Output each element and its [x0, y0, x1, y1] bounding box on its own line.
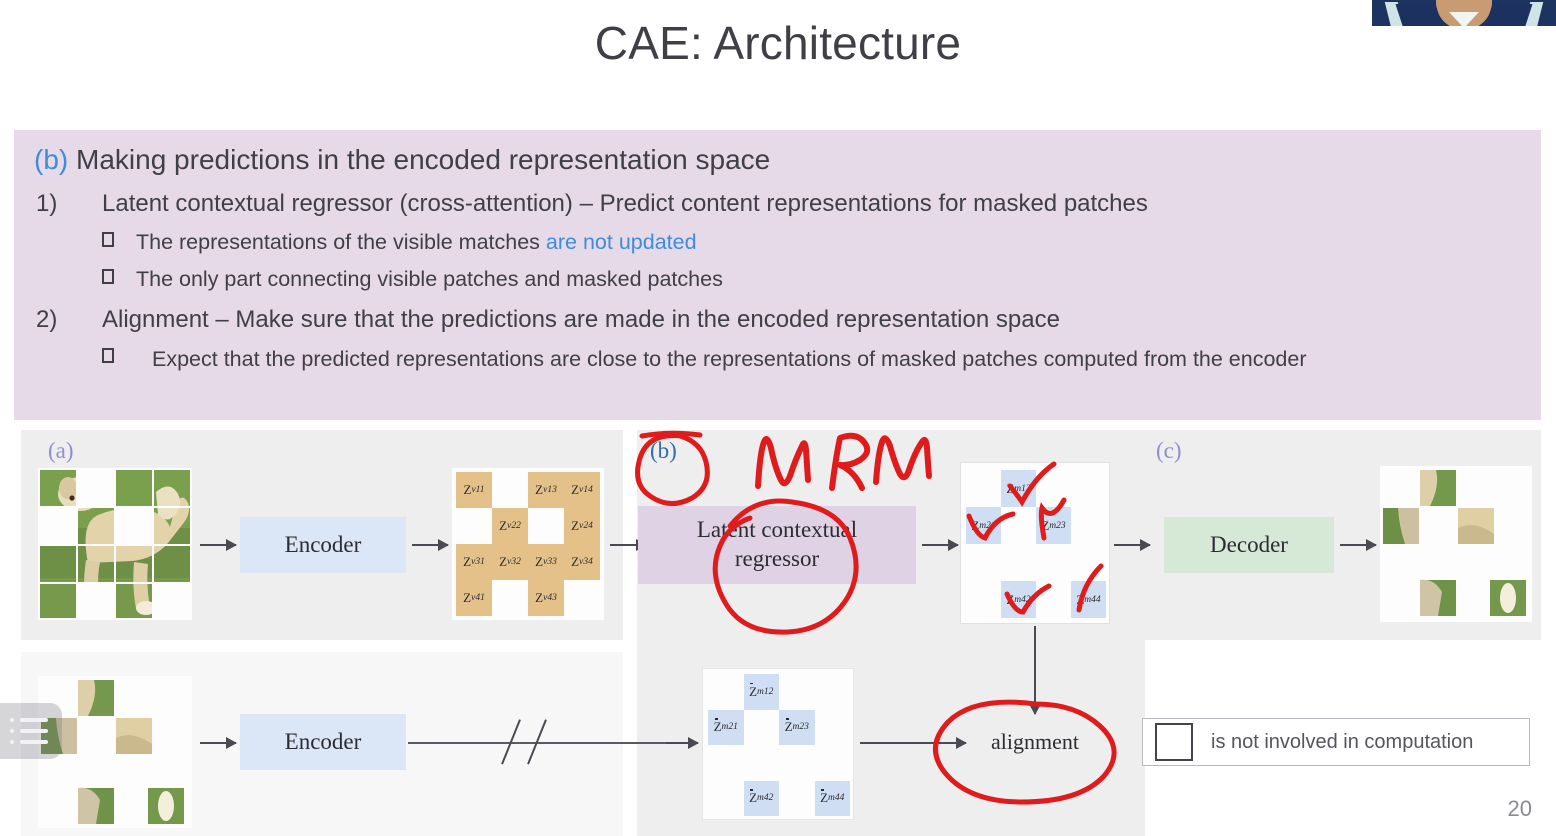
architecture-diagram: (a) (b) (c): [14, 428, 1541, 836]
arrow-to-target-tokens: [666, 742, 698, 744]
panel-c-tag: (c): [1156, 438, 1182, 464]
token-v43: Zv43: [528, 580, 564, 616]
arrow-regressor-to-predicted: [922, 544, 958, 546]
token-v31: Zv31: [456, 544, 492, 580]
list-item-2-sub-1-text: Expect that the predicted representation…: [152, 346, 1502, 374]
predicted-masked-token-grid: Zm12 Zm21 Zm23 Zm42 Zm44: [966, 470, 1106, 618]
token-empty: [492, 580, 528, 616]
reconstructed-masked-patches: [1380, 466, 1532, 622]
alignment-node[interactable]: alignment: [969, 720, 1101, 764]
menu-dot-icon: [10, 740, 14, 744]
token-v34: Zv34: [564, 544, 600, 580]
token-empty: [1071, 544, 1106, 581]
token-empty: [1036, 544, 1071, 581]
token-empty: [966, 581, 1001, 618]
square-bullet-icon: [102, 232, 114, 247]
token-empty: [708, 745, 744, 781]
list-item-2-number: 2): [36, 306, 82, 334]
token-empty: [815, 674, 851, 710]
list-item-1: 1) Latent contextual regressor (cross-at…: [36, 190, 1148, 218]
latent-contextual-regressor-box[interactable]: Latent contextual regressor: [638, 506, 916, 584]
arrow-decoder-to-output: [1340, 544, 1376, 546]
masked-input-image-canvas: [38, 676, 192, 828]
token-v14: Zv14: [564, 472, 600, 508]
token-empty: [1036, 581, 1071, 618]
token-m23: Zm23: [1036, 507, 1071, 544]
legend-empty-square-icon: [1155, 723, 1193, 761]
menu-dot-icon: [10, 729, 14, 733]
menu-line-1: [10, 718, 62, 722]
visible-tokens-canvas: Zv11 Zv13 Zv14 Zv22 Zv24 Zv31 Zv32 Zv33 …: [452, 468, 604, 620]
content-heading-text: Making predictions in the encoded repres…: [76, 144, 770, 175]
token-bar-m21: Zm21: [708, 710, 744, 746]
reconstructed-image-canvas: [1380, 466, 1532, 622]
list-item-2-text: Alignment – Make sure that the predictio…: [102, 306, 1060, 334]
square-bullet-icon: [102, 348, 114, 363]
arrow-encoder-to-tokens: [412, 544, 448, 546]
token-m44: Zm44: [1071, 581, 1106, 618]
slide-canvas: CAE: Architecture (b) Making predictions…: [0, 0, 1556, 836]
page-number: 20: [1508, 796, 1532, 822]
token-v11: Zv11: [456, 472, 492, 508]
list-item-1-number: 1): [36, 190, 82, 218]
token-bar-m44: Zm44: [815, 781, 851, 817]
content-heading-tag: (b): [34, 144, 68, 175]
arrow-predicted-to-alignment: [1034, 626, 1036, 714]
token-m12: Zm12: [1001, 470, 1036, 507]
token-empty: [779, 674, 815, 710]
regressor-label-line-2: regressor: [735, 545, 819, 574]
encoder-box-bottom[interactable]: Encoder: [240, 714, 406, 770]
token-empty: [815, 745, 851, 781]
input-image-canvas: [38, 468, 192, 620]
list-item-2-sub-1: Expect that the predicted representation…: [102, 346, 1502, 374]
list-item-1-sub-2-text: The only part connecting visible patches…: [136, 267, 723, 292]
token-empty: [708, 674, 744, 710]
token-empty: [1071, 470, 1106, 507]
token-bar-m42: Zm42: [744, 781, 780, 817]
target-masked-tokens-canvas: Zm12 Zm21 Zm23 Zm42 Zm44: [702, 668, 854, 820]
token-empty: [779, 745, 815, 781]
menu-line-3: [10, 740, 62, 744]
predicted-masked-tokens-canvas: Zm12 Zm21 Zm23 Zm42 Zm44: [960, 462, 1110, 624]
regressor-label-line-1: Latent contextual: [697, 516, 857, 545]
token-empty: [708, 781, 744, 817]
token-empty: [528, 508, 564, 544]
token-m42: Zm42: [1001, 581, 1036, 618]
panel-a-tag: (a): [48, 438, 74, 464]
menu-dot-icon: [10, 718, 14, 722]
token-v22: Zv22: [492, 508, 528, 544]
content-heading: (b) Making predictions in the encoded re…: [34, 144, 770, 176]
sub-1-highlight: are not updated: [546, 230, 697, 254]
arrow-masked-input-to-encoder: [200, 742, 236, 744]
page-title: CAE: Architecture: [0, 16, 1556, 70]
token-empty: [815, 710, 851, 746]
list-item-1-sub-2: The only part connecting visible patches…: [102, 267, 723, 292]
menu-bar-icon: [20, 729, 48, 733]
token-empty: [492, 472, 528, 508]
encoder-box-top[interactable]: Encoder: [240, 517, 406, 573]
menu-line-2: [10, 729, 62, 733]
target-masked-token-grid: Zm12 Zm21 Zm23 Zm42 Zm44: [708, 674, 850, 816]
decoder-box[interactable]: Decoder: [1164, 517, 1334, 573]
token-bar-m23: Zm23: [779, 710, 815, 746]
legend-box: is not involved in computation: [1142, 718, 1530, 766]
list-item-2: 2) Alignment – Make sure that the predic…: [36, 306, 1060, 334]
list-item-1-sub-1-text: The representations of the visible match…: [136, 230, 697, 255]
arrow-input-to-encoder: [200, 544, 236, 546]
token-empty: [1001, 507, 1036, 544]
token-m21: Zm21: [966, 507, 1001, 544]
token-empty: [1071, 507, 1106, 544]
webcam-shirt-right: [1483, 4, 1532, 26]
token-empty: [564, 580, 600, 616]
token-empty: [1001, 544, 1036, 581]
token-v24: Zv24: [564, 508, 600, 544]
token-v41: Zv41: [456, 580, 492, 616]
list-item-1-sub-1: The representations of the visible match…: [102, 230, 697, 255]
token-empty: [966, 470, 1001, 507]
menu-bar-icon: [20, 718, 48, 722]
panel-b-tag: (b): [650, 438, 677, 464]
token-empty: [456, 508, 492, 544]
token-empty: [779, 781, 815, 817]
list-item-1-text: Latent contextual regressor (cross-atten…: [102, 190, 1148, 218]
token-v33: Zv33: [528, 544, 564, 580]
legend-label: is not involved in computation: [1211, 731, 1473, 754]
arrow-predicted-to-decoder: [1114, 544, 1150, 546]
square-bullet-icon: [102, 269, 114, 284]
token-v13: Zv13: [528, 472, 564, 508]
content-box: (b) Making predictions in the encoded re…: [14, 130, 1541, 420]
webcam-overlay: [1372, 0, 1556, 26]
masked-input-image: [38, 468, 192, 620]
token-v32: Zv32: [492, 544, 528, 580]
visible-token-grid: Zv11 Zv13 Zv14 Zv22 Zv24 Zv31 Zv32 Zv33 …: [456, 472, 600, 616]
token-empty: [966, 544, 1001, 581]
masked-patches-input-image: [38, 676, 192, 828]
menu-bar-icon: [20, 740, 48, 744]
no-gradient-line: [408, 742, 696, 744]
token-empty: [1036, 470, 1071, 507]
token-empty: [744, 745, 780, 781]
sidebar-menu-toggle[interactable]: [0, 703, 62, 759]
arrow-target-to-alignment: [860, 742, 966, 744]
sub-1-plain: The representations of the visible match…: [136, 230, 546, 254]
token-bar-m12: Zm12: [744, 674, 780, 710]
token-empty: [744, 710, 780, 746]
